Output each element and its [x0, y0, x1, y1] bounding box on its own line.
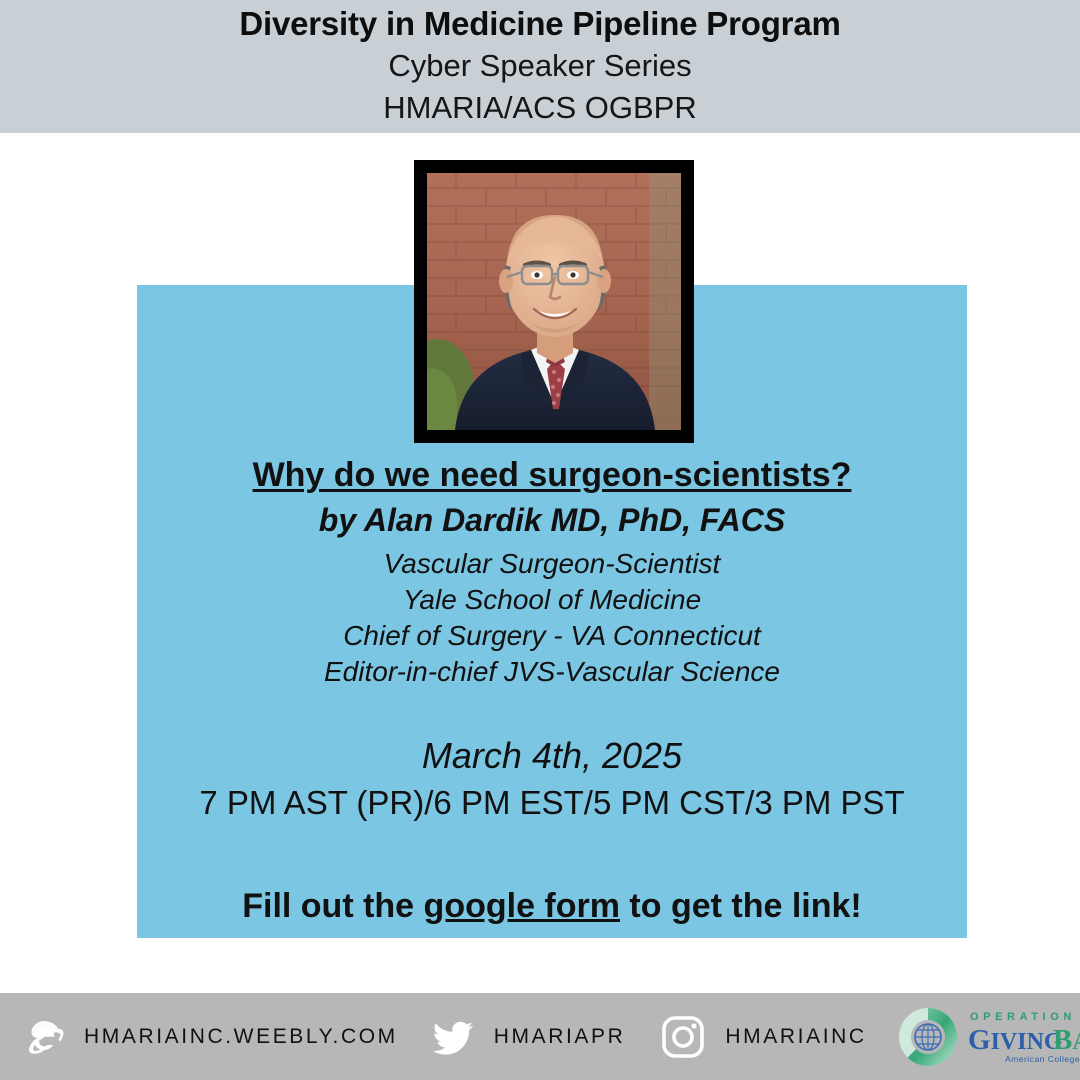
credential-line: Yale School of Medicine: [137, 582, 967, 618]
talk-title: Why do we need surgeon-scientists?: [137, 452, 967, 498]
twitter-icon: [428, 1012, 478, 1062]
footer-item-instagram[interactable]: HMARIAINC: [625, 1013, 866, 1061]
twitter-label: HMARIAPR: [494, 1025, 626, 1049]
internet-explorer-icon: [18, 1011, 70, 1063]
credential-line: Editor-in-chief JVS-Vascular Science: [137, 654, 967, 690]
website-label: HMARIAINC.WEEBLY.COM: [84, 1025, 398, 1049]
footer-band: HMARIAINC.WEEBLY.COM HMARIAPR HMARIAINC: [0, 993, 1080, 1080]
operation-giving-back-logo: OPERATION GIVING BACK American College o…: [895, 1004, 1080, 1070]
event-date: March 4th, 2025: [137, 732, 967, 780]
logo-back-text: BACK: [1053, 1024, 1080, 1056]
speaker-portrait-photo: [427, 173, 681, 430]
series-title: Cyber Speaker Series: [388, 45, 691, 87]
header-band: Diversity in Medicine Pipeline Program C…: [0, 0, 1080, 133]
logo-tagline-text: American College of Surgeons: [1005, 1054, 1080, 1064]
event-times: 7 PM AST (PR)/6 PM EST/5 PM CST/3 PM PST: [137, 780, 967, 825]
speaker-portrait-frame: [414, 160, 694, 443]
google-form-link[interactable]: google form: [424, 887, 620, 925]
cta-line: Fill out the google form to get the link…: [137, 883, 967, 929]
program-title: Diversity in Medicine Pipeline Program: [239, 2, 840, 45]
credential-line: Vascular Surgeon-Scientist: [137, 546, 967, 582]
logo-giving-text: GIVING: [968, 1024, 1063, 1056]
footer-item-website[interactable]: HMARIAINC.WEEBLY.COM: [0, 1011, 398, 1063]
instagram-label: HMARIAINC: [725, 1025, 866, 1049]
panel-text-block: Why do we need surgeon-scientists? by Al…: [137, 452, 967, 929]
footer-item-twitter[interactable]: HMARIAPR: [398, 1012, 626, 1062]
credential-line: Chief of Surgery - VA Connecticut: [137, 618, 967, 654]
speaker-byline: by Alan Dardik MD, PhD, FACS: [137, 498, 967, 543]
portrait-illustration: [427, 173, 681, 430]
cta-text-after: to get the link!: [620, 887, 862, 925]
cta-text-before: Fill out the: [242, 887, 423, 925]
speaker-credentials: Vascular Surgeon-Scientist Yale School o…: [137, 546, 967, 690]
organizers-title: HMARIA/ACS OGBPR: [383, 87, 697, 129]
logo-operation-text: OPERATION: [970, 1011, 1076, 1023]
instagram-icon: [659, 1013, 707, 1061]
